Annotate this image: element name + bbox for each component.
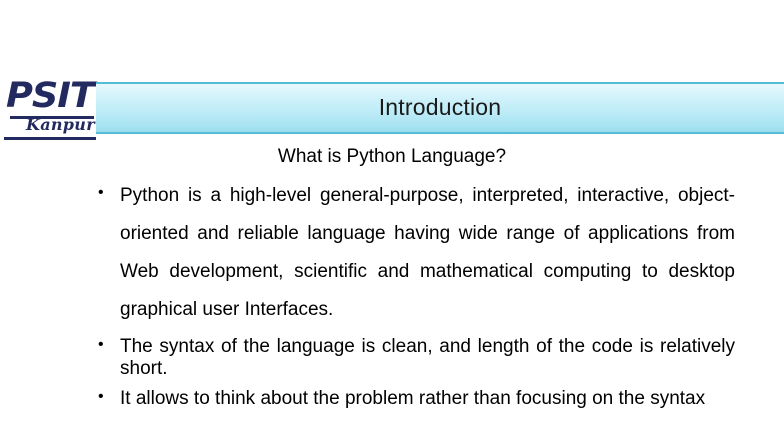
body-subheading: What is Python Language? (0, 140, 784, 169)
slide-canvas: PSIT Kanpur Introduction What is Python … (0, 0, 784, 441)
slide-body: What is Python Language? Python is a hig… (0, 140, 784, 410)
slide-title: Introduction (379, 96, 502, 121)
bullet-text: It allows to think about the problem rat… (120, 388, 735, 410)
logo-institute-name: PSIT (6, 79, 94, 114)
logo-location-name: Kanpur (26, 117, 95, 133)
psit-logo: PSIT Kanpur (4, 82, 100, 142)
bullet-item: It allows to think about the problem rat… (92, 388, 735, 410)
bullet-item: The syntax of the language is clean, and… (92, 336, 735, 381)
bullet-text: The syntax of the language is clean, and… (120, 336, 735, 381)
bullet-list: Python is a high-level general-purpose, … (0, 177, 784, 410)
title-banner: Introduction (96, 82, 784, 134)
slide-header: PSIT Kanpur Introduction (0, 82, 784, 134)
bullet-text: Python is a high-level general-purpose, … (120, 177, 735, 329)
bullet-item: Python is a high-level general-purpose, … (92, 177, 735, 329)
